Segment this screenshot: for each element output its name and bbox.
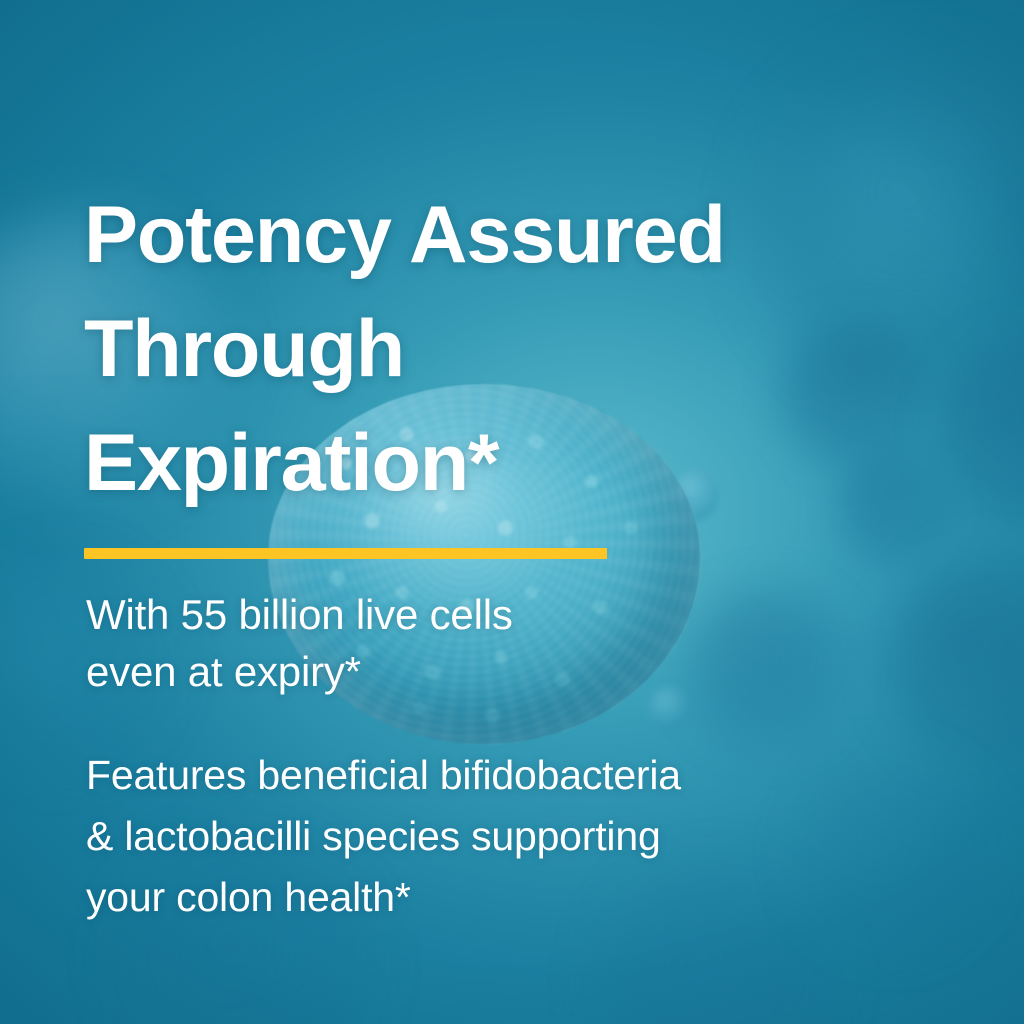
probiotic-promo-banner: Potency Assured Through Expiration* With…	[0, 0, 1024, 1024]
headline: Potency Assured Through Expiration*	[84, 178, 914, 520]
yellow-divider-rule-icon	[84, 548, 607, 559]
body-text: Features beneficial bifidobacteria & lac…	[86, 745, 896, 928]
lede-text: With 55 billion live cells even at expir…	[86, 586, 706, 700]
banner-content: Potency Assured Through Expiration* With…	[84, 0, 944, 1024]
